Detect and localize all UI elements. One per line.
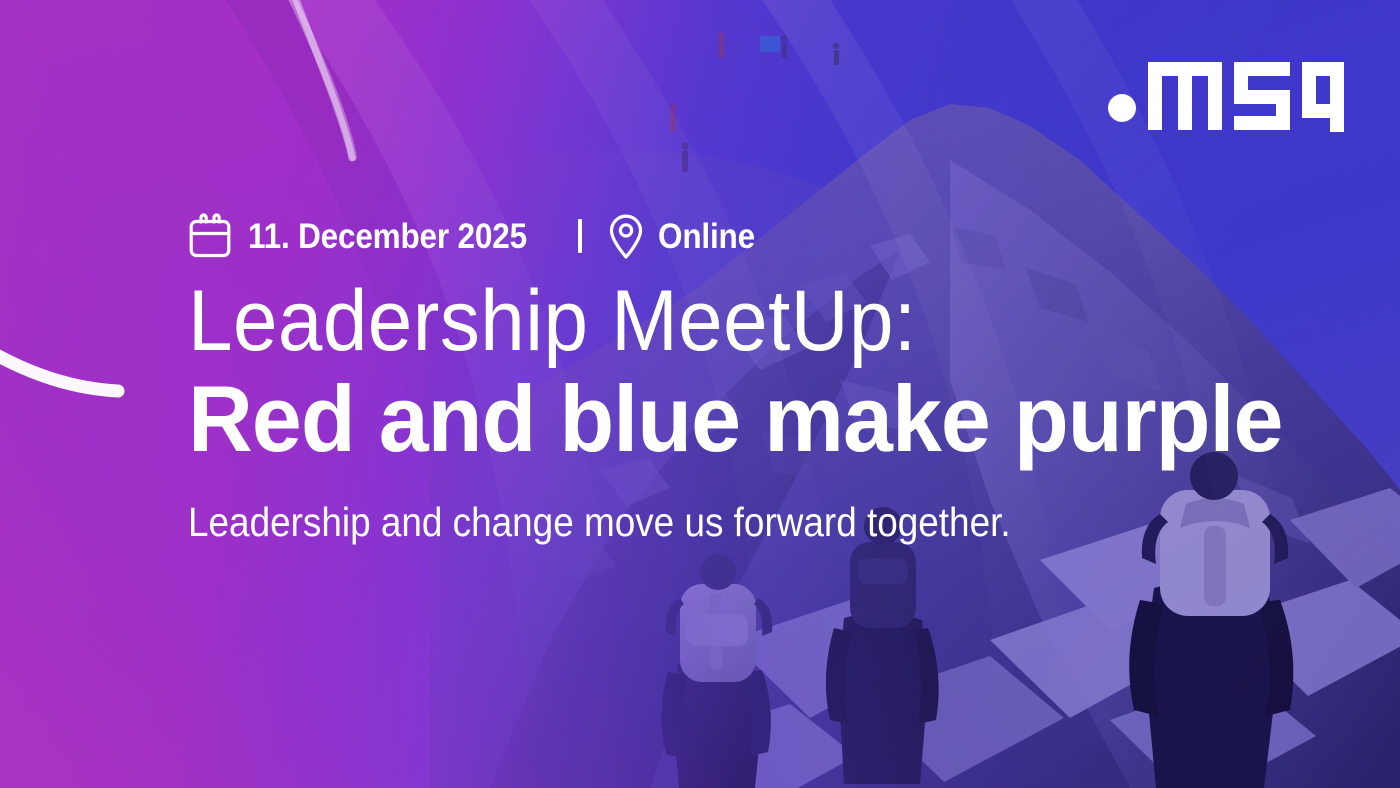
banner-content: 11. December 2025 Online Leadership Meet…	[188, 206, 1368, 545]
event-meta: 11. December 2025 Online	[188, 206, 1368, 266]
msg-logo	[1106, 46, 1344, 132]
event-date: 11. December 2025	[248, 219, 527, 254]
calendar-icon	[188, 213, 232, 259]
event-location: Online	[658, 219, 755, 254]
event-title-line1: Leadership MeetUp:	[188, 278, 1285, 366]
event-title-line2: Red and blue make purple	[188, 372, 1315, 466]
event-banner: 11. December 2025 Online Leadership Meet…	[0, 0, 1400, 788]
event-subtitle: Leadership and change move us forward to…	[188, 500, 1250, 545]
meta-separator	[578, 219, 582, 253]
map-pin-icon	[606, 212, 646, 260]
